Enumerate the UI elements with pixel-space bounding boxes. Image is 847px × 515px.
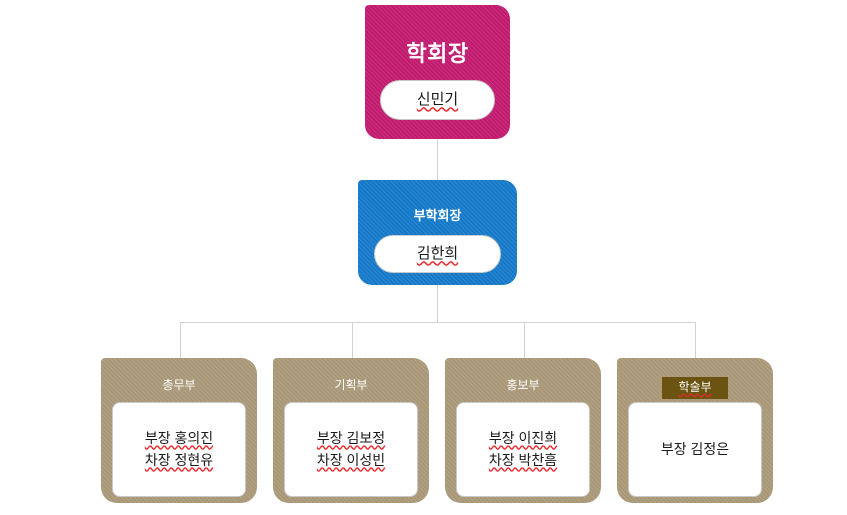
org-node-dept-academic-title-text[interactable]: 학술부: [662, 377, 727, 399]
org-node-dept-planning-title: 기획부: [334, 377, 367, 394]
org-node-dept-general-affairs-title-text: 총무부: [162, 377, 195, 394]
connector-horizontal-bus: [180, 322, 696, 323]
org-node-dept-planning-title-text: 기획부: [334, 377, 367, 394]
org-node-dept-public-relations-member-2: 차장 박찬흠: [489, 450, 557, 472]
org-node-dept-planning-member-2: 차장 이성빈: [317, 450, 385, 472]
org-node-dept-academic-title: 학술부: [662, 377, 727, 394]
connector-bus-to-dept-2: [524, 322, 525, 359]
org-node-vice-president-member: 김한희: [417, 242, 458, 265]
org-node-dept-planning-body[interactable]: 부장 김보정 차장 이성빈: [284, 402, 418, 497]
org-node-vice-president-title: 부학회장: [414, 205, 462, 224]
org-node-dept-general-affairs-title: 총무부: [162, 377, 195, 394]
connector-bus-to-dept-0: [180, 322, 181, 359]
org-node-president[interactable]: 학회장 신민기: [365, 5, 510, 139]
org-node-dept-general-affairs-body[interactable]: 부장 홍의진 차장 정현유: [112, 402, 246, 497]
org-node-dept-public-relations[interactable]: 홍보부 부장 이진희 차장 박찬흠: [445, 358, 601, 503]
org-node-dept-academic-member-1: 부장 김정은: [661, 439, 729, 461]
org-node-dept-academic-body[interactable]: 부장 김정은: [628, 402, 762, 497]
org-node-dept-public-relations-member-1: 부장 이진희: [489, 428, 557, 450]
org-node-president-body[interactable]: 신민기: [380, 80, 495, 120]
connector-bus-to-dept-3: [695, 322, 696, 359]
org-chart-canvas: 학회장 신민기 부학회장 김한희 총무부 부장 홍의진 차장 정현유 기획부 부…: [0, 0, 847, 515]
org-node-dept-public-relations-body[interactable]: 부장 이진희 차장 박찬흠: [456, 402, 590, 497]
connector-president-to-vice: [437, 139, 438, 181]
connector-bus-to-dept-1: [352, 322, 353, 359]
org-node-president-member: 신민기: [417, 88, 458, 111]
org-node-vice-president[interactable]: 부학회장 김한희: [358, 180, 517, 285]
org-node-dept-public-relations-title: 홍보부: [506, 377, 539, 394]
org-node-vice-president-title-text: 부학회장: [414, 205, 462, 224]
org-node-dept-general-affairs-member-2: 차장 정현유: [145, 450, 213, 472]
org-node-vice-president-body[interactable]: 김한희: [374, 235, 501, 273]
org-node-dept-general-affairs[interactable]: 총무부 부장 홍의진 차장 정현유: [101, 358, 257, 503]
org-node-president-title: 학회장: [406, 36, 468, 68]
org-node-dept-planning[interactable]: 기획부 부장 김보정 차장 이성빈: [273, 358, 429, 503]
org-node-dept-general-affairs-member-1: 부장 홍의진: [145, 428, 213, 450]
connector-vice-to-bus: [437, 285, 438, 323]
org-node-dept-planning-member-1: 부장 김보정: [317, 428, 385, 450]
org-node-dept-public-relations-title-text: 홍보부: [506, 377, 539, 394]
org-node-president-title-text: 학회장: [406, 36, 468, 68]
org-node-dept-academic[interactable]: 학술부 부장 김정은: [617, 358, 773, 503]
